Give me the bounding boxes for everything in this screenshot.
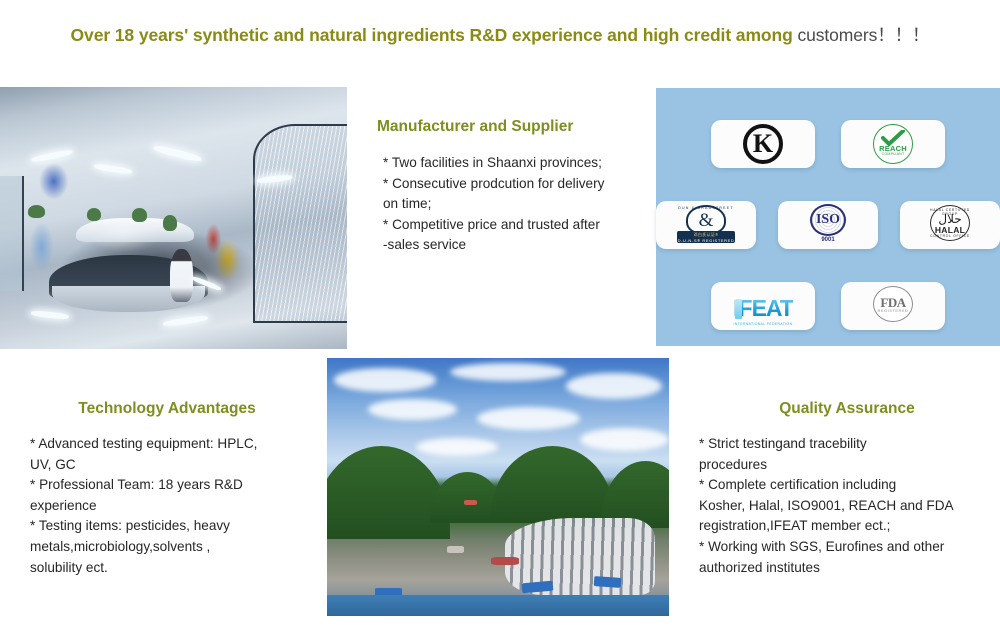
rooftop — [464, 500, 478, 505]
ceiling-lamp — [153, 144, 202, 162]
reach-sub: COMPLIANT — [873, 152, 913, 156]
ceiling-lamp — [93, 163, 132, 175]
river — [327, 595, 669, 616]
plant-icon — [132, 208, 148, 222]
technology-body: * Advanced testing equipment: HPLC, UV, … — [22, 434, 322, 578]
dun-bradstreet-icon: DUN & BRADSTREET & 邓白氏认证® D-U-N-S® REGIS… — [675, 205, 737, 245]
laboratory-panorama-image — [0, 87, 347, 349]
certification-row-1: K REACH COMPLIANT — [656, 120, 1000, 168]
page-title-main: Over 18 years' synthetic and natural ing… — [71, 25, 798, 45]
quality-assurance-body: * Strict testingand tracebility procedur… — [697, 434, 997, 578]
floor-reflection-lamp — [163, 314, 208, 326]
dnb-ampersand: & — [675, 211, 737, 230]
cloud — [566, 373, 662, 399]
plant-icon — [87, 208, 101, 221]
halal-icon: HALAL CERTIFIED GROUP حلال HALAL CONTROL… — [927, 205, 973, 245]
certification-card-kosher: K — [711, 120, 815, 168]
glass-partition-left — [0, 176, 24, 291]
certification-card-reach: REACH COMPLIANT — [841, 120, 945, 168]
cloud — [477, 407, 580, 430]
cloud — [450, 363, 566, 381]
rooftop — [491, 557, 518, 566]
rooftop — [447, 546, 464, 553]
ifeat-sub: INTERNATIONAL FEDERATION — [731, 322, 795, 326]
ifeat-wordmark: IFEAT — [733, 297, 793, 320]
kosher-icon: K — [743, 124, 783, 164]
iso-number: 9001 — [804, 237, 852, 243]
promo-banner: Over 18 years' synthetic and natural ing… — [0, 0, 1000, 641]
technology-block: Technology Advantages * Advanced testing… — [22, 400, 322, 578]
halal-arc-bottom: CONTROL OFFICE — [927, 234, 973, 238]
fda-word: FDA — [871, 296, 915, 309]
certification-row-2: DUN & BRADSTREET & 邓白氏认证® D-U-N-S® REGIS… — [656, 201, 1000, 249]
plant-icon — [28, 205, 45, 218]
certification-card-halal: HALAL CERTIFIED GROUP حلال HALAL CONTROL… — [900, 201, 1000, 249]
certification-card-fda: FDA REGISTERED — [841, 282, 945, 330]
certification-row-3: IFEAT INTERNATIONAL FEDERATION FDA REGIS… — [656, 282, 1000, 330]
mountain — [491, 446, 614, 523]
ifeat-icon: IFEAT INTERNATIONAL FEDERATION — [731, 292, 795, 320]
certification-card-dun-bradstreet: DUN & BRADSTREET & 邓白氏认证® D-U-N-S® REGIS… — [656, 201, 756, 249]
cloud — [368, 399, 457, 420]
certification-card-iso: ISO 9001 — [778, 201, 878, 249]
page-title-tail: customers！！！ — [797, 25, 929, 45]
ceiling-lamp — [31, 148, 73, 163]
cloud — [416, 438, 498, 456]
dnb-banner-bottom: D-U-N-S® REGISTERED — [678, 238, 735, 243]
quality-assurance-block: Quality Assurance * Strict testingand tr… — [697, 400, 997, 578]
ifeat-bottle-mark — [735, 299, 742, 319]
manufacturer-body: * Two facilities in Shaanxi provinces; *… — [377, 153, 649, 256]
cloud — [334, 368, 437, 391]
manufacturer-block: Manufacturer and Supplier * Two faciliti… — [377, 118, 649, 256]
dnb-banner: 邓白氏认证® D-U-N-S® REGISTERED — [677, 231, 735, 243]
technology-title: Technology Advantages — [12, 400, 322, 418]
quality-assurance-title: Quality Assurance — [697, 400, 997, 418]
mountain-town-panorama-image — [327, 358, 669, 616]
fda-sub: REGISTERED — [871, 309, 915, 313]
certification-card-ifeat: IFEAT INTERNATIONAL FEDERATION — [711, 282, 815, 330]
certification-panel: K REACH COMPLIANT DUN & BRADSTREET — [656, 88, 1000, 346]
fda-icon: FDA REGISTERED — [871, 286, 915, 326]
reach-icon: REACH COMPLIANT — [873, 124, 913, 164]
glass-partition-right — [253, 124, 347, 323]
mountain — [327, 446, 450, 539]
manufacturer-title: Manufacturer and Supplier — [377, 118, 649, 136]
iso-word: ISO — [804, 213, 852, 227]
cloud — [580, 428, 669, 451]
lab-technician — [170, 249, 193, 301]
halal-arabic-script: حلال — [927, 213, 973, 225]
iso-icon: ISO 9001 — [804, 204, 852, 246]
floor-reflection-lamp — [31, 310, 70, 319]
plant-icon — [163, 215, 177, 231]
page-title: Over 18 years' synthetic and natural ing… — [0, 22, 1000, 47]
kosher-letter: K — [743, 124, 783, 164]
